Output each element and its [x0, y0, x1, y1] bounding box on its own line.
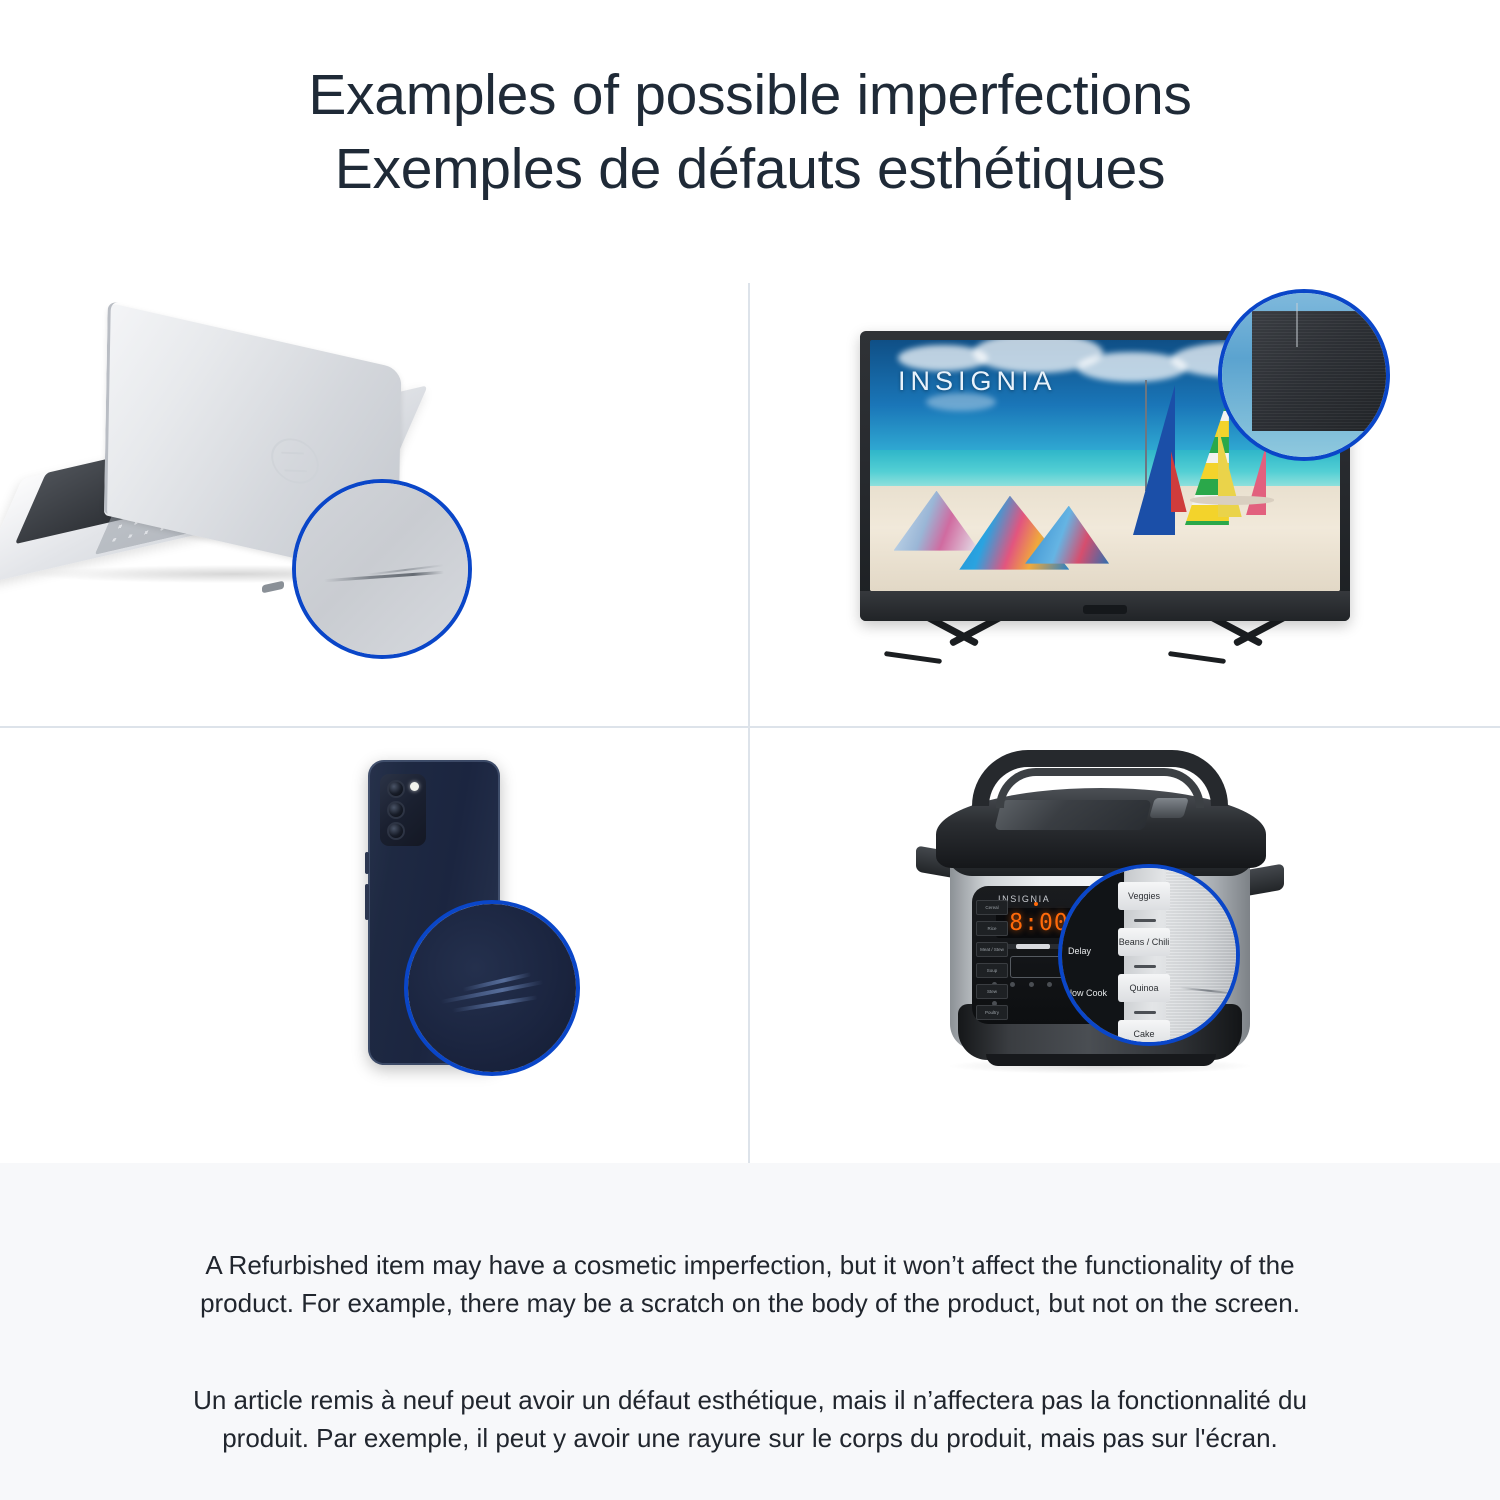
- page-title-en: Examples of possible imperfections: [0, 58, 1500, 132]
- magnifier-circle-smartphone: [404, 900, 580, 1076]
- cooker-left-button-column: Cereal Rice Meat / Stew Soup Stew Poultr…: [976, 900, 1014, 1026]
- smartphone-illustration: [0, 728, 748, 1163]
- example-cell-pressure-cooker: INSIGNIA 8:00: [750, 728, 1500, 1163]
- laptop-illustration: [0, 283, 748, 726]
- magnified-panel-dark-area: [1062, 868, 1124, 1046]
- button-separator: [1134, 919, 1156, 922]
- camera-lens-icon: [387, 801, 405, 819]
- tv-foot-left: [884, 651, 942, 664]
- magnifier-circle-pressure-cooker: Delay Slow Cook Veggies Beans / Chili Qu…: [1058, 864, 1240, 1046]
- magnifier-fill: [296, 483, 468, 655]
- magnified-label: Delay: [1068, 946, 1091, 956]
- boat-hull: [1190, 496, 1274, 505]
- pressure-cooker-illustration: INSIGNIA 8:00: [750, 728, 1500, 1163]
- tv-chin: [860, 591, 1350, 621]
- footer-paragraph-en: A Refurbished item may have a cosmetic i…: [180, 1246, 1320, 1322]
- status-led: [1034, 902, 1038, 906]
- page-title: Examples of possible imperfections Exemp…: [0, 58, 1500, 206]
- example-cell-laptop: [0, 283, 748, 726]
- sail-blue: [1133, 385, 1175, 535]
- indicator-led: [1029, 982, 1034, 987]
- tv-ir-sensor: [1083, 605, 1127, 614]
- indicator-led: [1047, 982, 1052, 987]
- television-illustration: INSIGNIA: [750, 283, 1500, 726]
- magnified-label: Slow Cook: [1064, 988, 1107, 998]
- button-separator: [1134, 1011, 1156, 1014]
- phone-power-button: [365, 884, 369, 920]
- cooker-button-magnified[interactable]: Quinoa: [1118, 974, 1170, 1002]
- magnifier-fill: [408, 904, 576, 1072]
- cooker-button[interactable]: Meat / Stew: [976, 942, 1008, 957]
- stainless-steel-texture: [1166, 868, 1236, 1042]
- bezel-texture: [1252, 311, 1390, 431]
- cooker-feet: [986, 1054, 1216, 1066]
- camera-flash-icon: [410, 782, 419, 791]
- camera-lens-icon: [387, 822, 405, 840]
- cooker-button[interactable]: Rice: [976, 921, 1008, 936]
- magnifier-circle-television: [1218, 289, 1390, 461]
- cooker-button[interactable]: Stew: [976, 984, 1008, 999]
- magnifier-circle-laptop: [292, 479, 472, 659]
- phone-volume-button: [365, 852, 369, 874]
- cooker-lid-handle-inner: [996, 768, 1204, 808]
- examples-grid: INSIGNIA: [0, 283, 1500, 1163]
- cooker-button[interactable]: Poultry: [976, 1005, 1008, 1020]
- tv-foot-right: [1168, 651, 1226, 664]
- page-title-fr: Exemples de défauts esthétiques: [0, 132, 1500, 206]
- tv-bezel-corner: [1252, 311, 1390, 431]
- cooker-button-magnified[interactable]: Veggies: [1118, 882, 1170, 910]
- cooker-button-magnified[interactable]: Cake: [1118, 1020, 1170, 1046]
- scuff-mark: [1296, 303, 1298, 347]
- example-cell-television: INSIGNIA: [750, 283, 1500, 726]
- infographic-page: Examples of possible imperfections Exemp…: [0, 0, 1500, 1500]
- magnified-button-column: Veggies Beans / Chili Quinoa Cake: [1118, 882, 1172, 1046]
- button-separator: [1134, 965, 1156, 968]
- camera-module: [380, 774, 426, 846]
- cooker-button[interactable]: Cereal: [976, 900, 1008, 915]
- camera-lens-icon: [387, 780, 405, 798]
- tv-brand-logo: INSIGNIA: [898, 366, 1057, 397]
- cloud: [1077, 352, 1187, 382]
- example-cell-smartphone: [0, 728, 748, 1163]
- cooker-button[interactable]: Soup: [976, 963, 1008, 978]
- cooker-button-magnified[interactable]: Beans / Chili: [1118, 928, 1170, 956]
- footer-section: A Refurbished item may have a cosmetic i…: [0, 1163, 1500, 1500]
- footer-paragraph-fr: Un article remis à neuf peut avoir un dé…: [180, 1381, 1320, 1457]
